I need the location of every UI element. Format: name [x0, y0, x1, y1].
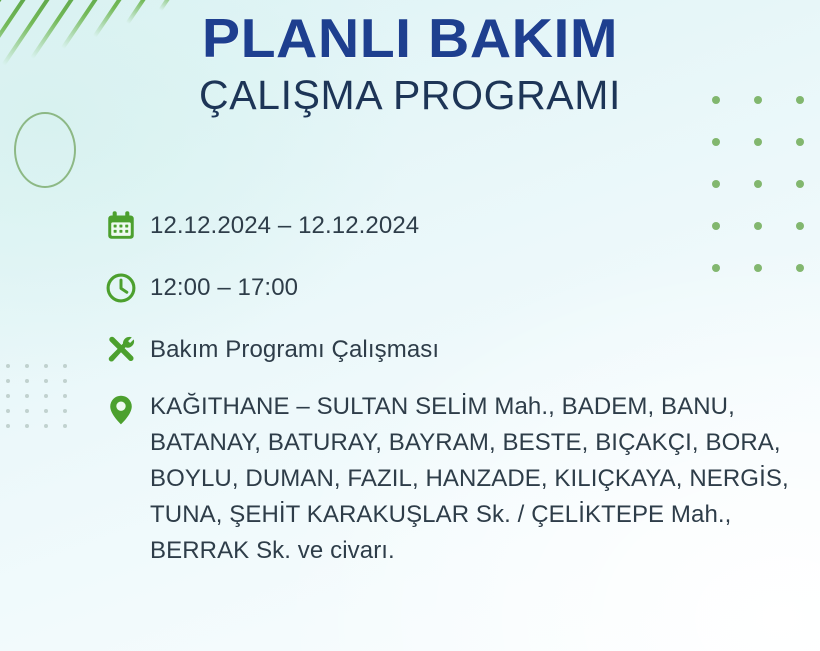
- page-subtitle: ÇALIŞMA PROGRAMI: [0, 70, 820, 120]
- address-line: BERRAK Sk. ve civarı.: [150, 533, 820, 569]
- planned-maintenance-poster: PLANLI BAKIM ÇALIŞMA PROGRAMI: [0, 0, 820, 651]
- map-pin-icon: [104, 389, 150, 429]
- address-line: TUNA, ŞEHİT KARAKUŞLAR Sk. / ÇELİKTEPE M…: [150, 497, 820, 533]
- maintenance-details: 12.12.2024 – 12.12.2024 12:00 – 17:00: [104, 205, 820, 569]
- date-range-value: 12.12.2024 – 12.12.2024: [150, 205, 820, 244]
- page-title: PLANLI BAKIM: [0, 8, 820, 68]
- address-line: BOYLU, DUMAN, FAZIL, HANZADE, KILIÇKAYA,…: [150, 461, 820, 497]
- clock-icon: [104, 267, 150, 307]
- time-range-value: 12:00 – 17:00: [150, 267, 820, 306]
- work-type-value: Bakım Programı Çalışması: [150, 329, 820, 368]
- detail-row-work-type: Bakım Programı Çalışması: [104, 329, 820, 369]
- detail-row-date: 12.12.2024 – 12.12.2024: [104, 205, 820, 245]
- detail-row-time: 12:00 – 17:00: [104, 267, 820, 307]
- dot-grid-decoration-left: [6, 364, 82, 439]
- address-line: BATANAY, BATURAY, BAYRAM, BESTE, BIÇAKÇI…: [150, 425, 820, 461]
- tools-icon: [104, 329, 150, 369]
- detail-row-address: KAĞITHANE – SULTAN SELİM Mah., BADEM, BA…: [104, 389, 820, 569]
- poster-header: PLANLI BAKIM ÇALIŞMA PROGRAMI: [0, 8, 820, 120]
- address-line: KAĞITHANE – SULTAN SELİM Mah., BADEM, BA…: [150, 389, 820, 425]
- address-value: KAĞITHANE – SULTAN SELİM Mah., BADEM, BA…: [150, 389, 820, 569]
- circle-outline-decoration: [14, 112, 76, 188]
- calendar-icon: [104, 205, 150, 245]
